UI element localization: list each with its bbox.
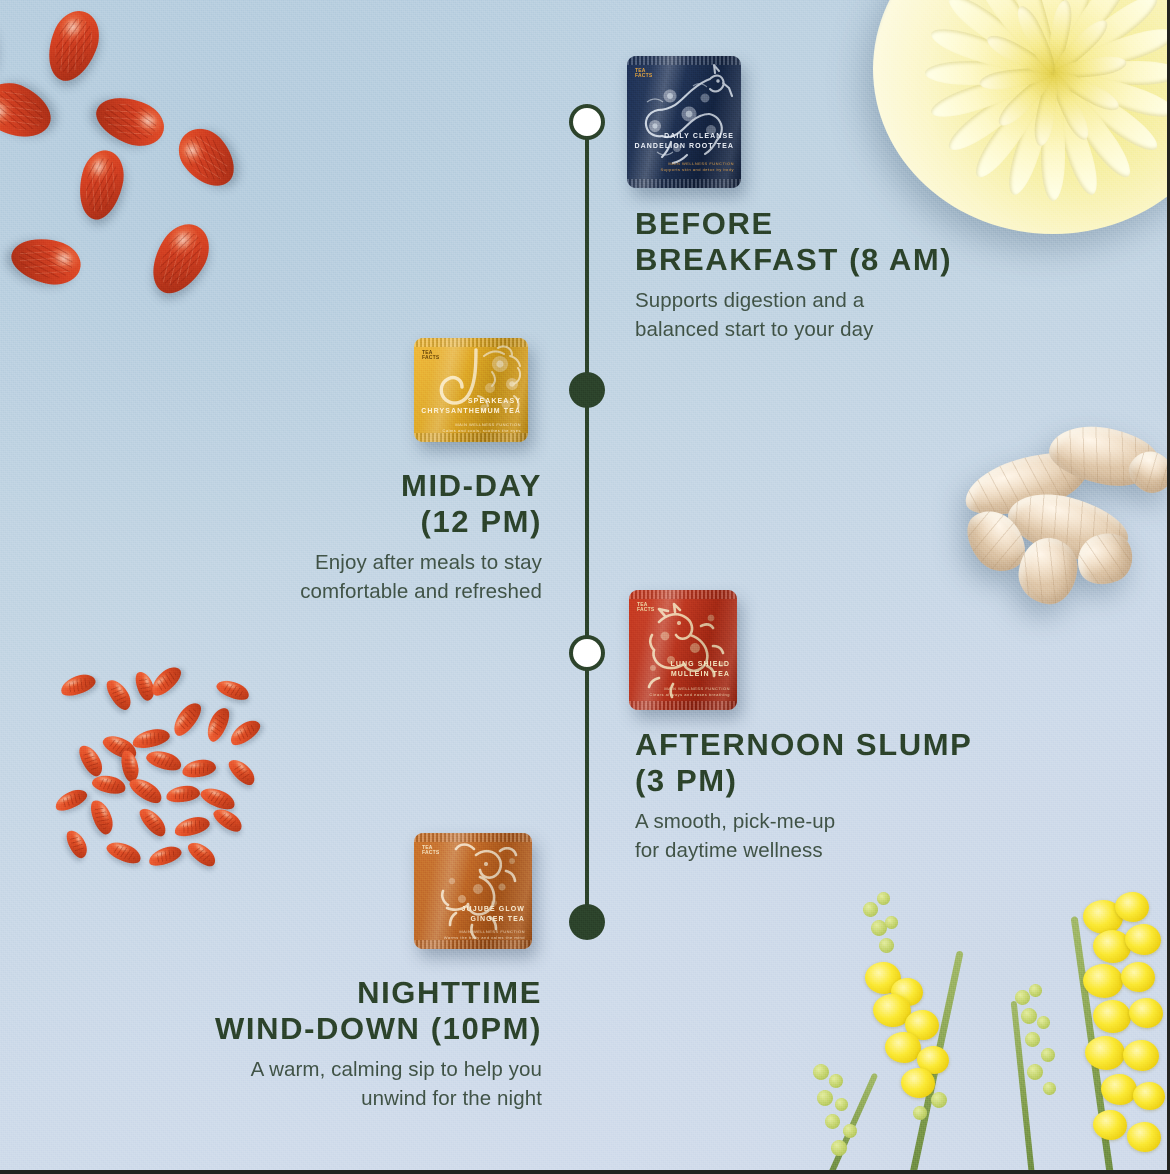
step-heading: MID-DAY (12 PM) (230, 468, 542, 541)
step-description: Supports digestion and a balanced start … (635, 286, 1035, 345)
brand-logo: TEA FACTS (637, 603, 665, 623)
tea-packet-speakeasy[interactable]: TEA FACTS SPEAKEASY CHRYSANTHEMUM TEA MA… (414, 338, 528, 442)
timeline-node-before-breakfast[interactable] (569, 104, 605, 140)
step-heading: AFTERNOON SLUMP (3 PM) (635, 727, 1035, 800)
timeline-node-afternoon-slump[interactable] (569, 635, 605, 671)
timeline-spine (585, 122, 589, 922)
packet-product-name: JUJUBE GLOW GINGER TEA (462, 905, 525, 925)
tea-packet-jujube-glow[interactable]: TEA FACTS JUJUBE GLOW GINGER TEA MAIN WE… (414, 833, 532, 949)
step-description: Enjoy after meals to stay comfortable an… (230, 548, 542, 607)
tea-ritual-timeline-infographic: TEA FACTS DAILY CLEANSE DANDELION ROOT T… (0, 0, 1170, 1174)
packet-product-name: LUNG SHIELD MULLEIN TEA (670, 660, 730, 680)
packet-product-name: DAILY CLEANSE DANDELION ROOT TEA (634, 132, 734, 152)
timeline-step-afternoon-slump: AFTERNOON SLUMP (3 PM) A smooth, pick-me… (635, 727, 1035, 865)
brand-logo: TEA FACTS (635, 69, 663, 89)
timeline-step-before-breakfast: BEFORE BREAKFAST (8 AM) Supports digesti… (635, 206, 1035, 344)
timeline-step-nighttime-wind-down: NIGHTTIME WIND-DOWN (10PM) A warm, calmi… (118, 975, 542, 1113)
packet-product-subtitle: MAIN WELLNESS FUNCTION Warms the body an… (444, 929, 525, 940)
tea-packet-lung-shield[interactable]: TEA FACTS LUNG SHIELD MULLEIN TEA MAIN W… (629, 590, 737, 710)
packet-product-subtitle: MAIN WELLNESS FUNCTION Supports skin and… (660, 161, 734, 172)
tea-packet-daily-cleanse[interactable]: TEA FACTS DAILY CLEANSE DANDELION ROOT T… (627, 56, 741, 188)
brand-logo: TEA FACTS (422, 351, 450, 371)
timeline-node-nighttime-wind-down[interactable] (569, 904, 605, 940)
step-heading: BEFORE BREAKFAST (8 AM) (635, 206, 1035, 279)
packet-product-subtitle: MAIN WELLNESS FUNCTION Calms and cools, … (442, 422, 521, 433)
packet-product-name: SPEAKEASY CHRYSANTHEMUM TEA (421, 397, 521, 417)
step-description: A warm, calming sip to help you unwind f… (118, 1055, 542, 1114)
packet-product-subtitle: MAIN WELLNESS FUNCTION Clears airways an… (649, 686, 730, 697)
brand-logo: TEA FACTS (422, 846, 450, 866)
timeline-step-mid-day: MID-DAY (12 PM) Enjoy after meals to sta… (230, 468, 542, 606)
step-description: A smooth, pick-me-up for daytime wellnes… (635, 807, 1035, 866)
step-heading: NIGHTTIME WIND-DOWN (10PM) (118, 975, 542, 1048)
timeline-node-mid-day[interactable] (569, 372, 605, 408)
